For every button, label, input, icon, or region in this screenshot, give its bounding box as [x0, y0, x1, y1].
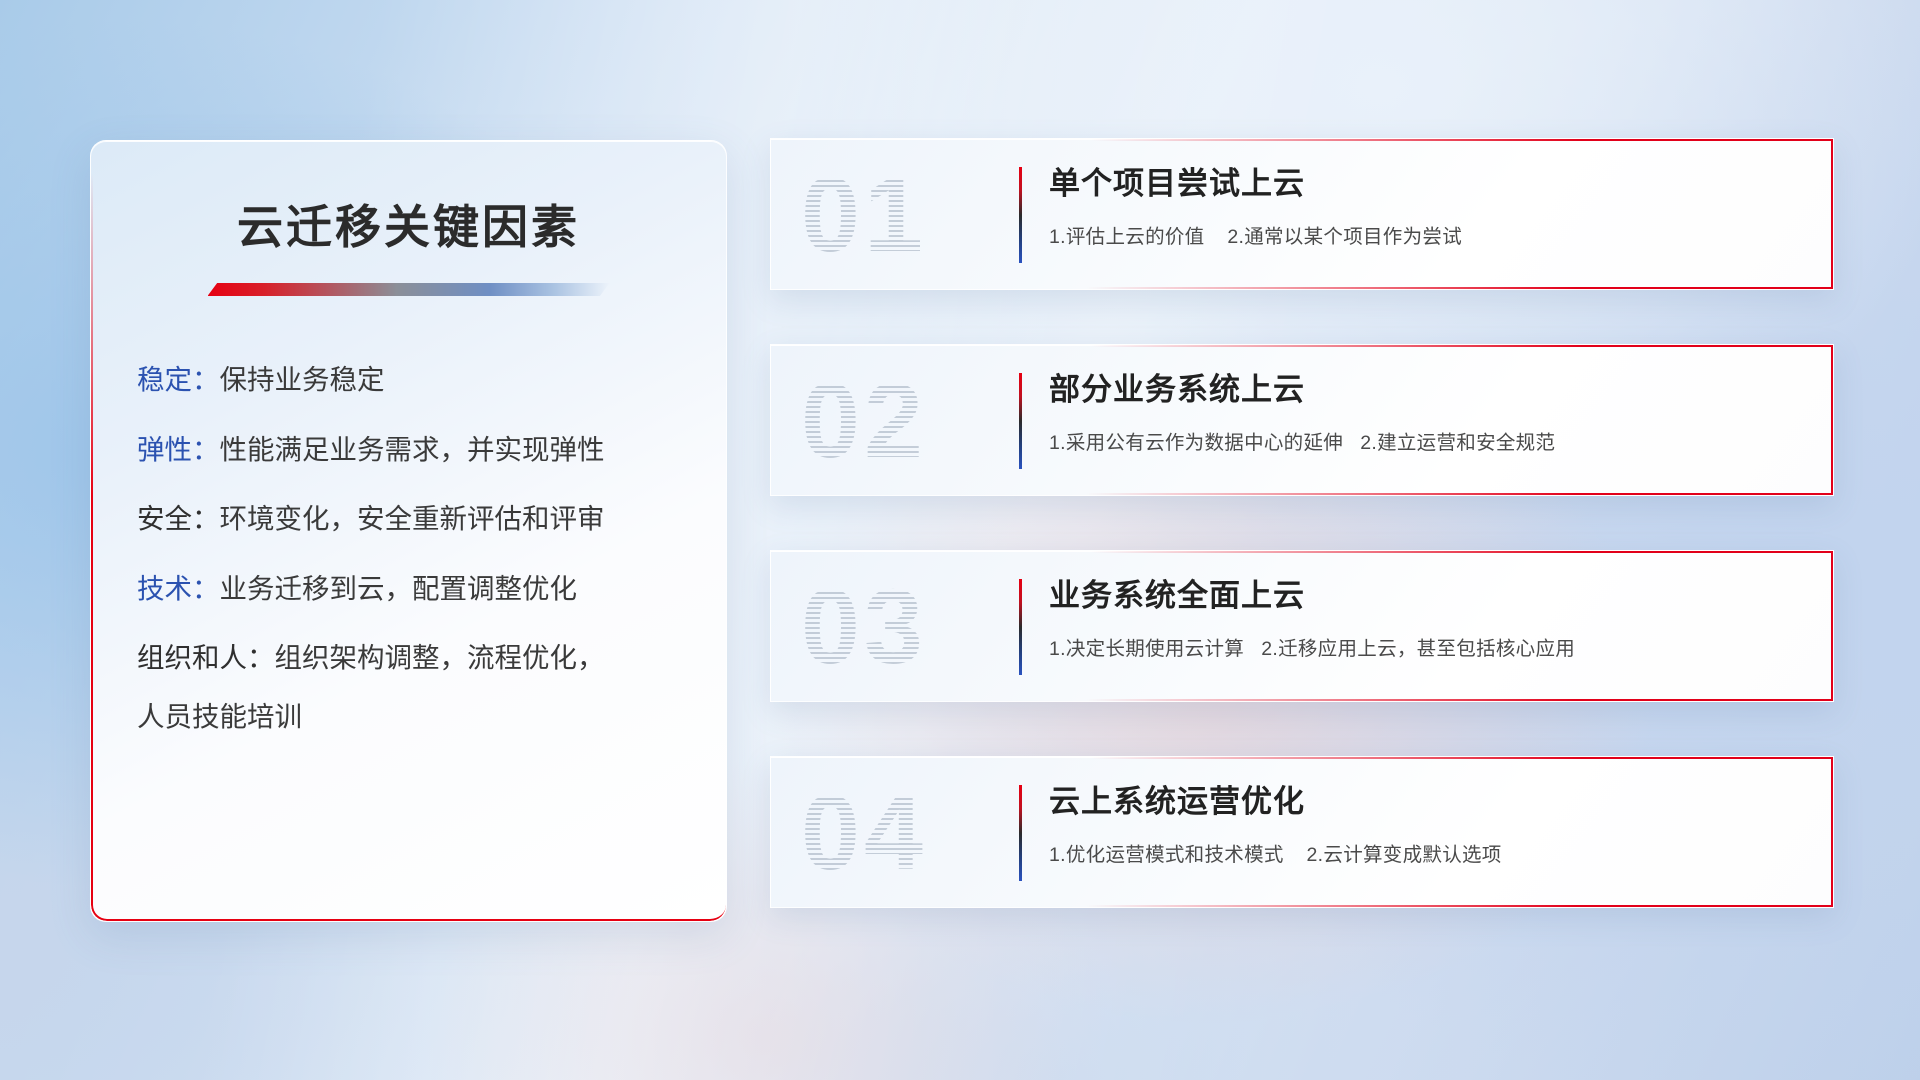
- factor-key: 技术：: [137, 573, 220, 604]
- stage-subtitle: 1.优化运营模式和技术模式 2.云计算变成默认选项: [1049, 838, 1793, 867]
- stage-number: 03: [801, 567, 981, 687]
- list-item: 安全：环境变化，安全重新评估和评审: [137, 505, 726, 533]
- stage-number: 04: [801, 773, 981, 893]
- factor-key: 安全：: [137, 503, 220, 534]
- factor-value: 保持业务稳定: [220, 364, 385, 395]
- list-item: 稳定：保持业务稳定: [137, 366, 726, 394]
- stage-card[interactable]: 03 业务系统全面上云 1.决定长期使用云计算 2.迁移应用上云，甚至包括核心应…: [770, 550, 1834, 702]
- stage-card-body: 部分业务系统上云 1.采用公有云作为数据中心的延伸 2.建立运营和安全规范: [1049, 371, 1793, 455]
- stage-card-body: 单个项目尝试上云 1.评估上云的价值 2.通常以某个项目作为尝试: [1049, 165, 1793, 249]
- list-item: 组织和人：组织架构调整，流程优化，: [137, 644, 726, 672]
- list-item: 弹性：性能满足业务需求，并实现弹性: [137, 436, 726, 464]
- stage-card[interactable]: 04 云上系统运营优化 1.优化运营模式和技术模式 2.云计算变成默认选项: [770, 756, 1834, 908]
- stage-accent-bar: [1019, 167, 1022, 263]
- factor-value: 业务迁移到云，配置调整优化: [220, 573, 578, 604]
- factor-key: 组织和人：: [137, 642, 275, 673]
- stage-subtitle: 1.评估上云的价值 2.通常以某个项目作为尝试: [1049, 220, 1793, 249]
- stage-accent-bar: [1019, 579, 1022, 675]
- factor-key: 稳定：: [137, 364, 220, 395]
- stage-accent-bar: [1019, 785, 1022, 881]
- factor-value: 环境变化，安全重新评估和评审: [220, 503, 605, 534]
- title-underline-rule: [208, 283, 610, 296]
- title-underline-bar: [208, 283, 610, 296]
- stage-accent-bar: [1019, 373, 1022, 469]
- factor-list: 稳定：保持业务稳定 弹性：性能满足业务需求，并实现弹性 安全：环境变化，安全重新…: [137, 366, 726, 734]
- stage-card[interactable]: 02 部分业务系统上云 1.采用公有云作为数据中心的延伸 2.建立运营和安全规范: [770, 344, 1834, 496]
- factor-key: 弹性：: [137, 434, 220, 465]
- stage-title: 业务系统全面上云: [1049, 577, 1793, 616]
- factor-value-continued: 人员技能培训: [137, 694, 726, 734]
- stage-number: 01: [801, 155, 981, 275]
- factor-value: 性能满足业务需求，并实现弹性: [220, 434, 605, 465]
- stage-title: 云上系统运营优化: [1049, 783, 1793, 822]
- stage-number: 02: [801, 361, 981, 481]
- stage-card[interactable]: 01 单个项目尝试上云 1.评估上云的价值 2.通常以某个项目作为尝试: [770, 138, 1834, 290]
- stage-subtitle: 1.采用公有云作为数据中心的延伸 2.建立运营和安全规范: [1049, 426, 1793, 455]
- stage-title: 部分业务系统上云: [1049, 371, 1793, 410]
- stage-title: 单个项目尝试上云: [1049, 165, 1793, 204]
- factor-value: 组织架构调整，流程优化，: [275, 642, 605, 673]
- key-factors-panel: 云迁移关键因素 稳定：保持业务稳定 弹性：性能满足业务需求，并实现弹性 安全：环…: [90, 140, 727, 922]
- stage-card-body: 业务系统全面上云 1.决定长期使用云计算 2.迁移应用上云，甚至包括核心应用: [1049, 577, 1793, 661]
- list-item: 技术：业务迁移到云，配置调整优化: [137, 575, 726, 603]
- page-title: 云迁移关键因素: [91, 191, 726, 257]
- stage-card-list: 01 单个项目尝试上云 1.评估上云的价值 2.通常以某个项目作为尝试 02 部…: [770, 138, 1834, 962]
- stage-card-body: 云上系统运营优化 1.优化运营模式和技术模式 2.云计算变成默认选项: [1049, 783, 1793, 867]
- stage-subtitle: 1.决定长期使用云计算 2.迁移应用上云，甚至包括核心应用: [1049, 632, 1793, 661]
